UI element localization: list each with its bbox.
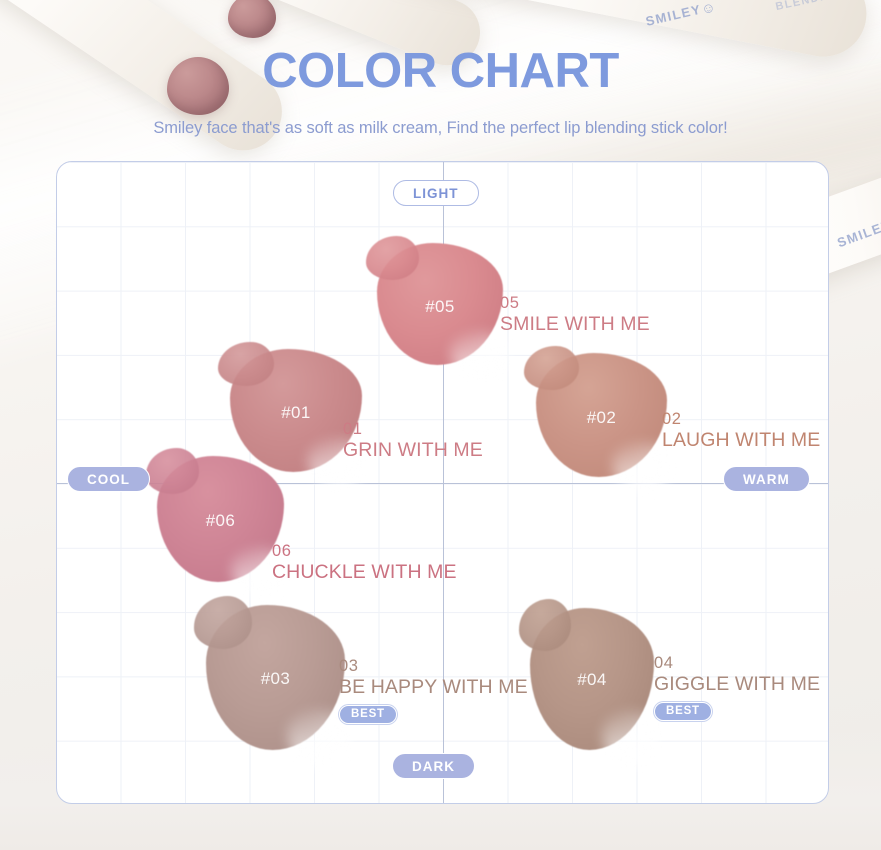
best-badge: BEST xyxy=(654,702,712,721)
swatch-shape xyxy=(377,243,503,365)
swatch-shape xyxy=(530,608,654,750)
callout-name: LAUGH WITH ME xyxy=(662,429,820,452)
page-title: COLOR CHART xyxy=(0,47,881,96)
callout-number: 04 xyxy=(654,654,820,673)
swatch-callout-05: 05 SMILE WITH ME xyxy=(500,294,650,336)
swatch-shape xyxy=(157,456,284,582)
axis-label-cool: COOL xyxy=(67,466,150,492)
axis-label-light: LIGHT xyxy=(393,180,479,206)
callout-name: BE HAPPY WITH ME xyxy=(339,676,528,699)
axis-label-warm: WARM xyxy=(723,466,810,492)
swatch-callout-06: 06 CHUCKLE WITH ME xyxy=(272,542,457,584)
color-swatch-05[interactable]: #05 xyxy=(377,243,503,365)
page-header: COLOR CHART Smiley face that's as soft a… xyxy=(0,0,881,138)
callout-number: 01 xyxy=(343,420,483,439)
color-swatch-02[interactable]: #02 xyxy=(536,353,667,477)
best-badge: BEST xyxy=(339,705,397,724)
callout-number: 05 xyxy=(500,294,650,313)
color-swatch-03[interactable]: #03 xyxy=(206,605,345,750)
color-swatch-06[interactable]: #06 xyxy=(157,456,284,582)
page-subtitle: Smiley face that's as soft as milk cream… xyxy=(0,119,881,138)
swatch-callout-03: 03 BE HAPPY WITH ME BEST xyxy=(339,657,528,724)
swatch-callout-04: 04 GIGGLE WITH ME BEST xyxy=(654,654,820,721)
swatch-shape xyxy=(206,605,345,750)
callout-name: GIGGLE WITH ME xyxy=(654,673,820,696)
callout-name: GRIN WITH ME xyxy=(343,439,483,462)
callout-number: 02 xyxy=(662,410,820,429)
axis-label-dark: DARK xyxy=(392,753,475,779)
swatch-shape xyxy=(536,353,667,477)
callout-name: SMILE WITH ME xyxy=(500,313,650,336)
callout-name: CHUCKLE WITH ME xyxy=(272,561,457,584)
swatch-callout-01: 01 GRIN WITH ME xyxy=(343,420,483,462)
swatch-callout-02: 02 LAUGH WITH ME xyxy=(662,410,820,452)
callout-number: 03 xyxy=(339,657,528,676)
callout-number: 06 xyxy=(272,542,457,561)
color-swatch-04[interactable]: #04 xyxy=(530,608,654,750)
